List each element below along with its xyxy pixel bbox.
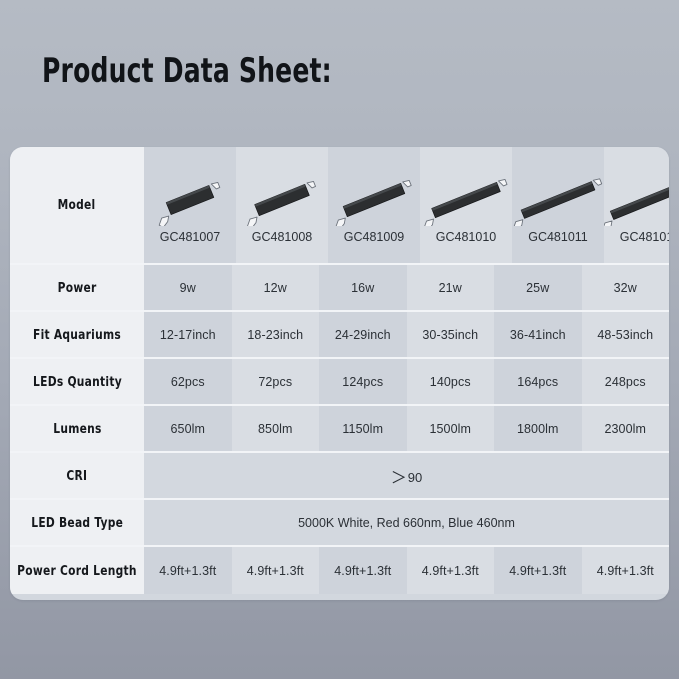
cell-value: 21w bbox=[439, 281, 462, 295]
cell-value: 140pcs bbox=[430, 375, 471, 389]
led-light-bar-image bbox=[328, 172, 420, 228]
cell-value: 850lm bbox=[258, 422, 293, 436]
model-name: GC481012 bbox=[620, 230, 669, 244]
merged-value-number: 90 bbox=[408, 470, 422, 485]
table-row: Fit Aquariums12-17inch18-23inch24-29inch… bbox=[10, 312, 669, 359]
row-label-cell: Power bbox=[10, 265, 144, 310]
row-label: Lumens bbox=[53, 421, 101, 437]
cell-value: 24-29inch bbox=[335, 328, 391, 342]
cell-value: 12-17inch bbox=[160, 328, 216, 342]
data-cell: 248pcs bbox=[582, 359, 670, 404]
data-cell: 850lm bbox=[232, 406, 320, 451]
data-cell: 650lm bbox=[144, 406, 232, 451]
table-row: Power Cord Length4.9ft+1.3ft4.9ft+1.3ft4… bbox=[10, 547, 669, 594]
cell-value: 650lm bbox=[170, 422, 205, 436]
data-cell: 4.9ft+1.3ft bbox=[494, 547, 582, 594]
model-cell: GC481012 bbox=[604, 147, 669, 263]
merged-value: 5000K White, Red 660nm, Blue 460nm bbox=[298, 516, 515, 530]
merged-value-cell: 5000K White, Red 660nm, Blue 460nm bbox=[144, 500, 669, 545]
row-label-cell: Power Cord Length bbox=[10, 547, 144, 594]
cell-value: 32w bbox=[614, 281, 637, 295]
model-cell: GC481008 bbox=[236, 147, 328, 263]
spec-table: Model GC481007 GC481008 GC481009 bbox=[10, 147, 669, 600]
row-label: Power Cord Length bbox=[17, 563, 137, 579]
cell-value: 2300lm bbox=[604, 422, 646, 436]
data-cell: 16w bbox=[319, 265, 407, 310]
row-label: Model bbox=[58, 197, 96, 213]
led-light-bar-image bbox=[604, 172, 669, 228]
cell-value: 1150lm bbox=[342, 422, 383, 436]
data-cell: 12w bbox=[232, 265, 320, 310]
data-cell: 30-35inch bbox=[407, 312, 495, 357]
table-row: Lumens650lm850lm1150lm1500lm1800lm2300lm bbox=[10, 406, 669, 453]
model-name: GC481010 bbox=[436, 230, 496, 244]
cell-value: 4.9ft+1.3ft bbox=[334, 564, 391, 578]
model-name: GC481007 bbox=[160, 230, 220, 244]
cell-value: 48-53inch bbox=[597, 328, 653, 342]
data-cell: 1800lm bbox=[494, 406, 582, 451]
cell-value: 124pcs bbox=[342, 375, 383, 389]
data-cell: 140pcs bbox=[407, 359, 495, 404]
data-cell: 4.9ft+1.3ft bbox=[232, 547, 320, 594]
row-label: LED Bead Type bbox=[31, 515, 123, 531]
data-cell: 4.9ft+1.3ft bbox=[407, 547, 495, 594]
data-cell: 9w bbox=[144, 265, 232, 310]
data-cell: 21w bbox=[407, 265, 495, 310]
model-cell: GC481009 bbox=[328, 147, 420, 263]
cell-value: 1500lm bbox=[429, 422, 471, 436]
data-cell: 1150lm bbox=[319, 406, 407, 451]
row-label: Power bbox=[58, 280, 97, 296]
row-label-cell: LEDs Quantity bbox=[10, 359, 144, 404]
data-cell: 12-17inch bbox=[144, 312, 232, 357]
row-label-cell: Model bbox=[10, 147, 144, 263]
cell-value: 4.9ft+1.3ft bbox=[247, 564, 304, 578]
table-row: CRI＞90 bbox=[10, 453, 669, 500]
table-row: Power9w12w16w21w25w32w bbox=[10, 265, 669, 312]
data-cells: 650lm850lm1150lm1500lm1800lm2300lm bbox=[144, 406, 669, 451]
data-cell: 32w bbox=[582, 265, 670, 310]
led-light-bar-image bbox=[512, 172, 604, 228]
cell-value: 4.9ft+1.3ft bbox=[422, 564, 479, 578]
data-cell: 62pcs bbox=[144, 359, 232, 404]
greater-than-icon: ＞ bbox=[391, 470, 408, 487]
data-cells: 62pcs72pcs124pcs140pcs164pcs248pcs bbox=[144, 359, 669, 404]
cell-value: 36-41inch bbox=[510, 328, 566, 342]
data-cell: 48-53inch bbox=[582, 312, 670, 357]
data-cell: 72pcs bbox=[232, 359, 320, 404]
row-label-cell: Fit Aquariums bbox=[10, 312, 144, 357]
cell-value: 9w bbox=[180, 281, 196, 295]
cell-value: 16w bbox=[351, 281, 374, 295]
table-row: Model GC481007 GC481008 GC481009 bbox=[10, 147, 669, 265]
cell-value: 4.9ft+1.3ft bbox=[597, 564, 654, 578]
data-cell: 124pcs bbox=[319, 359, 407, 404]
row-label: Fit Aquariums bbox=[33, 327, 121, 343]
data-cell: 18-23inch bbox=[232, 312, 320, 357]
data-cells: 4.9ft+1.3ft4.9ft+1.3ft4.9ft+1.3ft4.9ft+1… bbox=[144, 547, 669, 594]
data-cell: 25w bbox=[494, 265, 582, 310]
cell-value: 1800lm bbox=[517, 422, 559, 436]
row-label: CRI bbox=[67, 468, 88, 484]
page-title: Product Data Sheet: bbox=[42, 50, 332, 92]
table-row: LEDs Quantity62pcs72pcs124pcs140pcs164pc… bbox=[10, 359, 669, 406]
cell-value: 25w bbox=[526, 281, 549, 295]
led-light-bar-image bbox=[144, 172, 236, 228]
model-name: GC481008 bbox=[252, 230, 312, 244]
spec-table-body: Model GC481007 GC481008 GC481009 bbox=[10, 147, 669, 600]
cell-value: 30-35inch bbox=[422, 328, 478, 342]
cell-value: 62pcs bbox=[171, 375, 205, 389]
model-name: GC481011 bbox=[528, 230, 588, 244]
data-cell: 2300lm bbox=[582, 406, 670, 451]
led-light-bar-image bbox=[236, 172, 328, 228]
data-cell: 1500lm bbox=[407, 406, 495, 451]
model-name: GC481009 bbox=[344, 230, 404, 244]
merged-value: ＞90 bbox=[391, 464, 422, 488]
led-light-bar-image bbox=[420, 172, 512, 228]
data-cell: 4.9ft+1.3ft bbox=[582, 547, 670, 594]
row-label-cell: Lumens bbox=[10, 406, 144, 451]
data-cell: 164pcs bbox=[494, 359, 582, 404]
cell-value: 72pcs bbox=[258, 375, 292, 389]
cell-value: 4.9ft+1.3ft bbox=[159, 564, 216, 578]
data-cells: 9w12w16w21w25w32w bbox=[144, 265, 669, 310]
cell-value: 18-23inch bbox=[247, 328, 303, 342]
merged-value-cell: ＞90 bbox=[144, 453, 669, 498]
model-cell: GC481010 bbox=[420, 147, 512, 263]
product-data-sheet-page: Product Data Sheet: Model GC481007 GC481… bbox=[0, 0, 679, 679]
cell-value: 4.9ft+1.3ft bbox=[509, 564, 566, 578]
data-cells: GC481007 GC481008 GC481009 GC481010 bbox=[144, 147, 669, 263]
model-cell: GC481011 bbox=[512, 147, 604, 263]
model-cell: GC481007 bbox=[144, 147, 236, 263]
row-label-cell: LED Bead Type bbox=[10, 500, 144, 545]
cell-value: 248pcs bbox=[605, 375, 646, 389]
table-row: LED Bead Type5000K White, Red 660nm, Blu… bbox=[10, 500, 669, 547]
row-label-cell: CRI bbox=[10, 453, 144, 498]
row-label: LEDs Quantity bbox=[33, 374, 122, 390]
data-cell: 24-29inch bbox=[319, 312, 407, 357]
data-cells: 12-17inch18-23inch24-29inch30-35inch36-4… bbox=[144, 312, 669, 357]
data-cell: 4.9ft+1.3ft bbox=[319, 547, 407, 594]
data-cell: 36-41inch bbox=[494, 312, 582, 357]
cell-value: 12w bbox=[264, 281, 287, 295]
data-cell: 4.9ft+1.3ft bbox=[144, 547, 232, 594]
cell-value: 164pcs bbox=[517, 375, 558, 389]
